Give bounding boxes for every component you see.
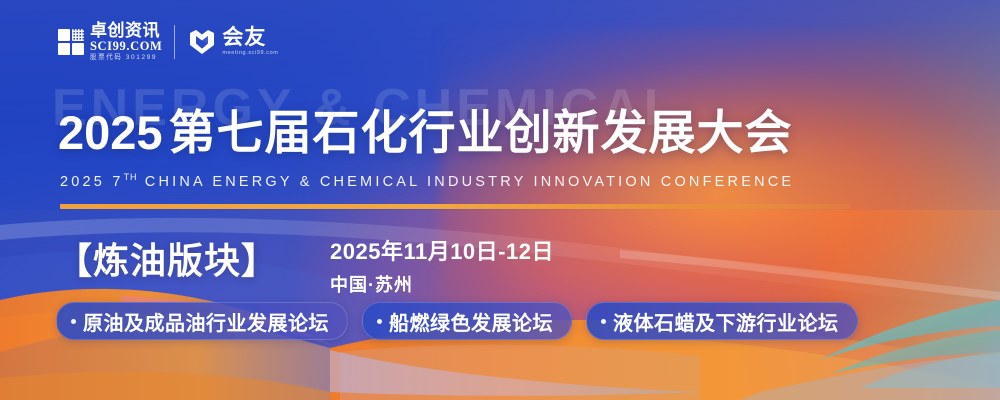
logo-divider — [174, 25, 175, 59]
bullet-dot-icon — [601, 319, 606, 324]
sci99-stock-code: 股票代码 301299 — [90, 54, 162, 61]
sci99-en-name: SCI99.COM — [90, 40, 162, 53]
forum-label: 液体石蜡及下游行业论坛 — [613, 307, 839, 336]
forum-pill-marine-fuel[interactable]: 船燃绿色发展论坛 — [362, 302, 572, 340]
bullet-dot-icon — [377, 319, 382, 324]
huiyou-url: meeting.sci99.com — [222, 51, 278, 57]
event-location: 中国·苏州 — [330, 271, 554, 297]
event-info: 2025年11月10日-12日 中国·苏州 — [330, 234, 554, 297]
subtitle-ordinal: TH — [124, 172, 138, 182]
gold-divider — [60, 204, 850, 209]
forum-pill-liquid-paraffin[interactable]: 液体石蜡及下游行业论坛 — [586, 302, 858, 340]
huiyou-cn-name: 会友 — [222, 27, 278, 48]
four-squares-icon — [58, 29, 84, 55]
logo-bar: 卓创资讯 SCI99.COM 股票代码 301299 会友 meeting.sc… — [58, 22, 278, 61]
headline-subtitle: 2025 7TH CHINA ENERGY & CHEMICAL INDUSTR… — [60, 172, 794, 190]
sci99-logo[interactable]: 卓创资讯 SCI99.COM 股票代码 301299 — [58, 22, 162, 61]
forum-label: 原油及成品油行业发展论坛 — [83, 307, 329, 336]
forum-label: 船燃绿色发展论坛 — [389, 307, 553, 336]
headline-main: 第七届石化行业创新发展大会 — [169, 106, 793, 159]
event-date: 2025年11月10日-12日 — [330, 234, 554, 266]
sci99-cn-name: 卓创资讯 — [90, 22, 162, 39]
huiyou-logo[interactable]: 会友 meeting.sci99.com — [187, 27, 278, 57]
bullet-dot-icon — [71, 319, 76, 324]
page-title: 2025第七届石化行业创新发展大会 — [58, 108, 793, 157]
forum-list: 原油及成品油行业发展论坛 船燃绿色发展论坛 液体石蜡及下游行业论坛 — [56, 302, 858, 340]
section-label: 【炼油版块】 — [56, 232, 278, 284]
huiyou-mark-icon — [187, 27, 217, 57]
subtitle-prefix: 2025 7 — [60, 174, 124, 190]
subtitle-rest: CHINA ENERGY & CHEMICAL INDUSTRY INNOVAT… — [145, 174, 795, 190]
headline-year: 2025 — [58, 106, 163, 159]
conference-banner: 卓创资讯 SCI99.COM 股票代码 301299 会友 meeting.sc… — [0, 0, 1000, 400]
forum-pill-crude-oil[interactable]: 原油及成品油行业发展论坛 — [56, 302, 348, 340]
